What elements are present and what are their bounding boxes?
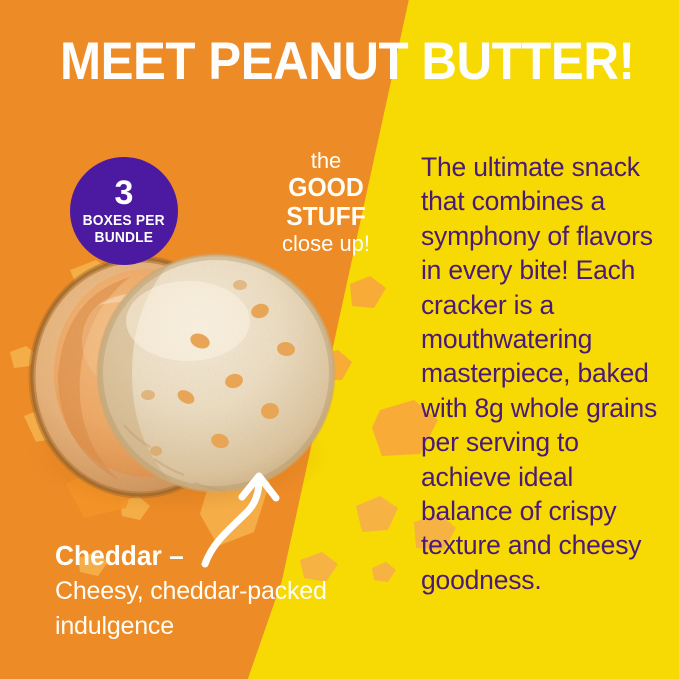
promo-graphic: MEET PEANUT BUTTER! 3 BOXES PER BUNDLE t… — [0, 0, 679, 679]
flavor-caption-heading: Cheddar – — [55, 538, 393, 574]
status-badge: 3 BOXES PER BUNDLE — [70, 157, 178, 265]
badge-count: 3 — [115, 176, 134, 210]
flavor-caption: Cheddar – Cheesy, cheddar-packed indulge… — [55, 538, 415, 644]
callout-line-mid: GOOD STUFF — [247, 173, 405, 231]
good-stuff-callout: the GOOD STUFF close up! — [243, 148, 409, 257]
callout-line-top: the — [243, 148, 409, 173]
badge-label-line2: BUNDLE — [95, 229, 154, 246]
callout-line-bottom: close up! — [243, 231, 409, 257]
page-title: MEET PEANUT BUTTER! — [60, 34, 618, 90]
flavor-caption-body: Cheesy, cheddar-packed indulgence — [55, 574, 415, 644]
badge-label-line1: BOXES PER — [83, 212, 165, 229]
product-description: The ultimate snack that combines a symph… — [421, 150, 665, 597]
cracker-sandwich-photo — [28, 245, 358, 520]
